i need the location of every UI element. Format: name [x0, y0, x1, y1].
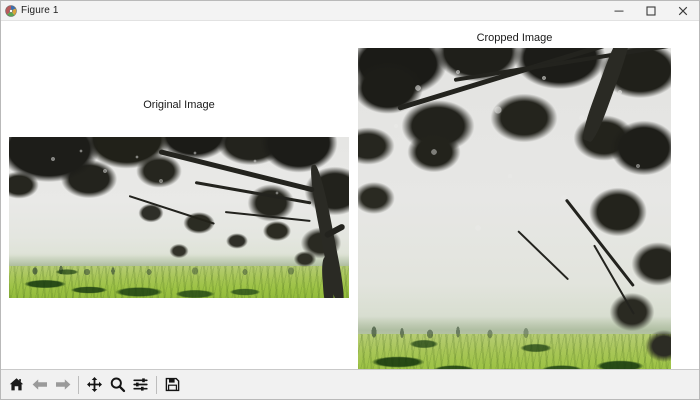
arrow-right-icon [54, 376, 72, 393]
foreground-fronds-cropped [358, 322, 671, 369]
move-icon [86, 376, 103, 393]
minimize-icon [613, 5, 625, 17]
floppy-disk-icon [164, 376, 181, 393]
maximize-button[interactable] [635, 1, 667, 20]
magnifier-icon [109, 376, 126, 393]
image-original [9, 137, 349, 298]
navigation-toolbar [1, 369, 699, 399]
home-button[interactable] [5, 373, 28, 396]
figure-canvas[interactable]: Original Image [1, 21, 699, 369]
toolbar-separator-1 [78, 376, 79, 394]
home-icon [8, 376, 25, 393]
minimize-button[interactable] [603, 1, 635, 20]
matplotlib-icon [5, 5, 17, 17]
zoom-button[interactable] [106, 373, 129, 396]
foreground-fronds [9, 254, 349, 298]
forward-button[interactable] [51, 373, 74, 396]
title-bar: Figure 1 [1, 1, 699, 21]
window-controls [603, 1, 699, 20]
arrow-left-icon [31, 376, 49, 393]
panel-title-cropped: Cropped Image [358, 32, 671, 44]
figure-window: Figure 1 Original Image [0, 0, 700, 400]
toolbar-separator-2 [156, 376, 157, 394]
configure-subplots-button[interactable] [129, 373, 152, 396]
sliders-icon [132, 376, 149, 393]
image-cropped [358, 48, 671, 369]
back-button[interactable] [28, 373, 51, 396]
maximize-icon [645, 5, 657, 17]
save-button[interactable] [161, 373, 184, 396]
panel-title-original: Original Image [9, 99, 349, 111]
title-bar-left: Figure 1 [1, 5, 59, 17]
close-button[interactable] [667, 1, 699, 20]
pan-button[interactable] [83, 373, 106, 396]
panel-original: Original Image [9, 99, 349, 299]
panel-cropped: Cropped Image [358, 21, 671, 369]
window-title: Figure 1 [21, 5, 59, 17]
close-icon [677, 5, 689, 17]
